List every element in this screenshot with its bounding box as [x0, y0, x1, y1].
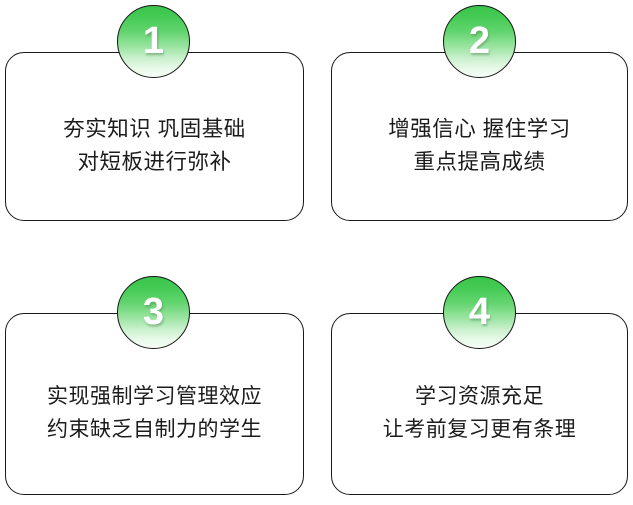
step-badge-2: 2	[443, 5, 516, 78]
step-card-3-line-2: 约束缺乏自制力的学生	[47, 413, 262, 446]
step-card-2-text: 增强信心 握住学习 重点提高成绩	[332, 95, 627, 179]
step-badge-3-number: 3	[143, 293, 164, 331]
step-card-3-text: 实现强制学习管理效应 约束缺乏自制力的学生	[6, 362, 303, 446]
step-badge-4: 4	[443, 276, 516, 349]
step-card-4-line-2: 让考前复习更有条理	[383, 413, 577, 446]
step-card-1-line-1: 夯实知识 巩固基础	[63, 113, 245, 146]
step-badge-1-number: 1	[143, 22, 164, 60]
step-card-2-line-2: 重点提高成绩	[413, 146, 545, 179]
step-badge-1: 1	[117, 5, 190, 78]
step-card-2-line-1: 增强信心 握住学习	[388, 113, 570, 146]
four-step-diagram: 夯实知识 巩固基础 对短板进行弥补 1 增强信心 握住学习 重点提高成绩 2 实…	[0, 0, 633, 505]
step-card-3-line-1: 实现强制学习管理效应	[47, 380, 262, 413]
step-badge-2-number: 2	[469, 22, 490, 60]
step-card-4-text: 学习资源充足 让考前复习更有条理	[332, 362, 627, 446]
step-card-1-line-2: 对短板进行弥补	[77, 146, 231, 179]
step-badge-3: 3	[117, 276, 190, 349]
step-badge-4-number: 4	[469, 293, 490, 331]
step-card-4-line-1: 学习资源充足	[415, 380, 544, 413]
step-card-1-text: 夯实知识 巩固基础 对短板进行弥补	[6, 95, 303, 179]
